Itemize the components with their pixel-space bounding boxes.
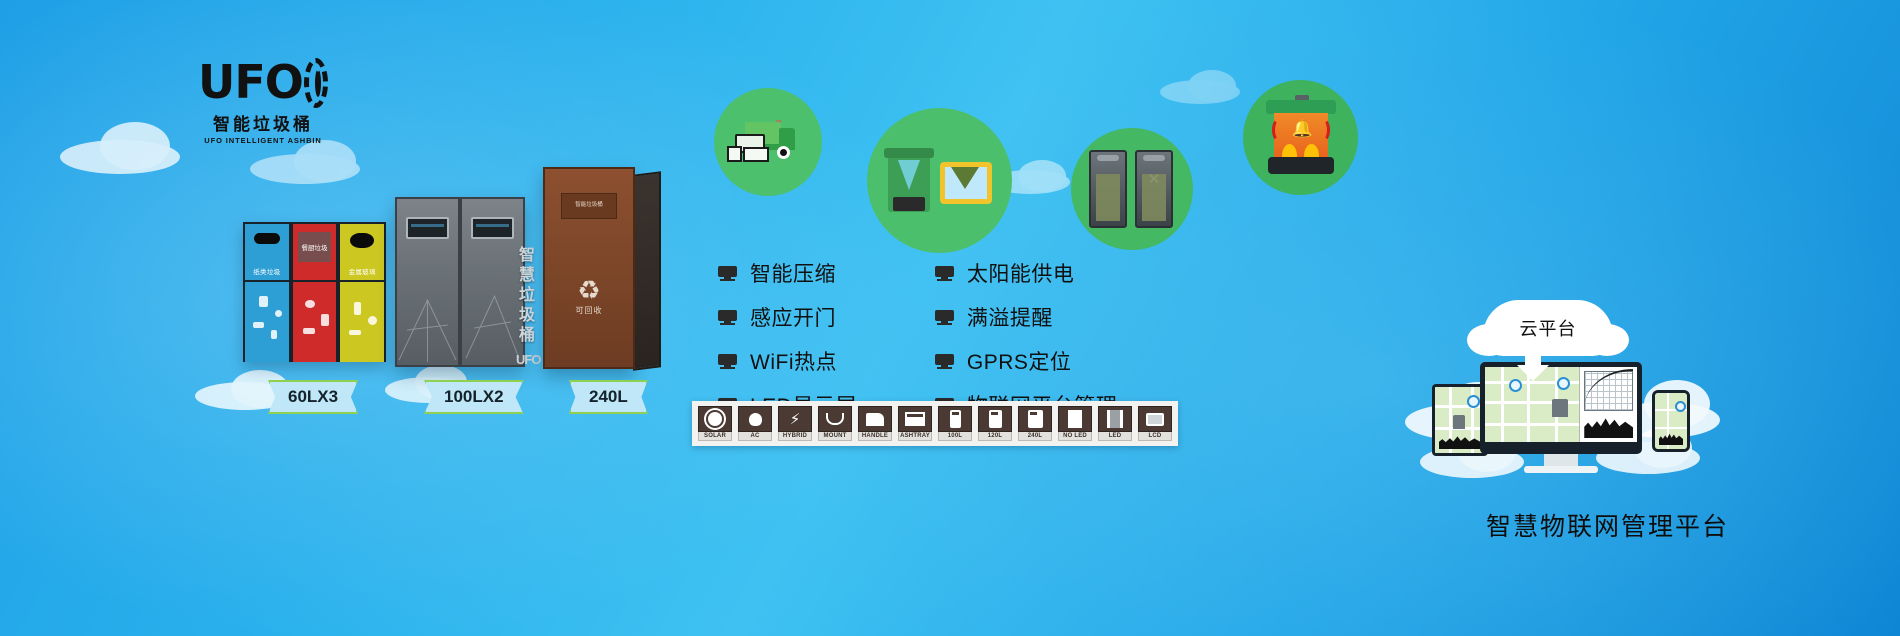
wall-mount-icon — [818, 406, 852, 432]
capacity-tag-60lx3: 60LX3 — [268, 380, 358, 414]
solar-panel-icon — [698, 406, 732, 432]
grey-bin-brand-mark: UFO — [516, 352, 540, 367]
feature-item: GPRS定位 — [935, 346, 1118, 376]
spec-icon-label: AC — [738, 432, 772, 441]
spec-icon-solar: SOLAR — [698, 406, 732, 441]
monitor-icon — [935, 354, 954, 369]
spec-icon-label: HANDLE — [858, 432, 892, 441]
gear-ring-icon — [304, 58, 328, 108]
bin-label-kitchen: 餐厨垃圾 — [298, 232, 331, 262]
spec-icon-label: MOUNT — [818, 432, 852, 441]
grey-bin-vertical-label: 智慧垃圾桶 — [512, 246, 536, 346]
ac-plug-icon — [738, 406, 772, 432]
ashtray-icon — [898, 406, 932, 432]
no-led-icon — [1058, 406, 1092, 432]
recycle-marking: ♻ 可回收 — [545, 277, 633, 316]
spec-icon-label: LCD — [1138, 432, 1172, 441]
auto-bagging-icon: ✕ — [1089, 150, 1175, 228]
bin-column-paper: 纸类垃圾 — [243, 222, 291, 362]
spec-icon-100l: 100L — [938, 406, 972, 441]
brown-bin-240l: 智能垃圾桶 ♻ 可回收 — [543, 167, 635, 369]
spec-icon-lcd: LCD — [1138, 406, 1172, 441]
feature-label: 感应开门 — [750, 302, 836, 332]
bin-column-kitchen: 餐厨垃圾 — [291, 222, 339, 362]
recycle-label: 可回收 — [545, 305, 633, 316]
line-chart-curve — [1584, 371, 1633, 411]
recycle-icon: ♻ — [545, 277, 633, 303]
bin-body-metal-glass — [340, 280, 384, 362]
bin-info-panel: 智能垃圾桶 — [561, 193, 617, 219]
desktop-monitor — [1480, 362, 1642, 454]
spec-icon-label: SOLAR — [698, 432, 732, 441]
spec-icon-ashtray: ASHTRAY — [898, 406, 932, 441]
logo-en-name: UFO INTELLIGENT ASHBIN — [198, 136, 328, 145]
bin-front-face: 智能垃圾桶 ♻ 可回收 — [543, 167, 635, 369]
logo-ufo-text: UFO — [198, 56, 303, 108]
logo-cn-name: 智能垃圾桶 — [198, 110, 328, 135]
hybrid-bolt-icon: ⚡ — [778, 406, 812, 432]
spec-icon-mount: MOUNT — [818, 406, 852, 441]
feature-item: 太阳能供电 — [935, 258, 1118, 288]
spec-icon-label: HYBRID — [778, 432, 812, 441]
feature-label: WiFi热点 — [750, 346, 837, 376]
feature-column-left: 智能压缩 感应开门 WiFi热点 LED显示屏 — [718, 258, 857, 420]
logo-wordmark: UFO — [198, 56, 328, 108]
spec-icon-label: 120L — [978, 432, 1012, 441]
phone-device — [1652, 390, 1690, 452]
capacity-tag-240l: 240L — [569, 380, 648, 414]
spec-icon-label: NO LED — [1058, 432, 1092, 441]
feature-circle-fleet — [714, 88, 822, 196]
spec-icon-strip: SOLAR AC ⚡ HYBRID MOUNT HANDLE ASHTRAY 1… — [692, 401, 1178, 446]
bin-body-kitchen — [293, 280, 337, 362]
feature-label: GPRS定位 — [967, 346, 1072, 376]
fire-alarm-icon: 🔔 — [1262, 100, 1340, 176]
spec-icon-label: 100L — [938, 432, 972, 441]
bin-display-screen — [406, 217, 450, 239]
bar-chart-silhouette — [1584, 410, 1633, 438]
bin-top-kitchen: 餐厨垃圾 — [293, 224, 337, 280]
ufo-logo: UFO 智能垃圾桶 UFO INTELLIGENT ASHBIN — [198, 56, 328, 152]
platform-title: 智慧物联网管理平台 — [1486, 507, 1729, 543]
feature-label: 满溢提醒 — [967, 302, 1053, 332]
three-color-bin: 纸类垃圾 餐厨垃圾 金属玻璃 — [243, 222, 386, 362]
spec-icon-label: ASHTRAY — [898, 432, 932, 441]
monitor-icon — [718, 354, 737, 369]
handle-icon — [858, 406, 892, 432]
cloud-platform-badge: 云平台 — [1483, 300, 1613, 356]
spec-icon-label: LED — [1098, 432, 1132, 441]
spec-icon-led: LED — [1098, 406, 1132, 441]
spec-icon-label: 240L — [1018, 432, 1052, 441]
bin-label-paper: 纸类垃圾 — [245, 266, 289, 276]
lcd-icon — [1138, 406, 1172, 432]
bin-240l-icon — [1018, 406, 1052, 432]
feature-circle-fire-alarm: 🔔 — [1243, 80, 1358, 195]
bin-top-metal-glass: 金属玻璃 — [340, 224, 384, 280]
bin-column-metal-glass: 金属玻璃 — [338, 222, 386, 362]
bin-top-paper: 纸类垃圾 — [245, 224, 289, 280]
monitor-icon — [935, 310, 954, 325]
feature-label: 智能压缩 — [750, 258, 836, 288]
banner-stage: UFO 智能垃圾桶 UFO INTELLIGENT ASHBIN 纸类垃圾 餐厨… — [0, 0, 1900, 636]
management-dashboard — [1432, 362, 1690, 474]
bin-body-paper — [245, 280, 289, 362]
spec-icon-120l: 120L — [978, 406, 1012, 441]
bin-side-panel — [633, 171, 661, 370]
feature-item: 满溢提醒 — [935, 302, 1118, 332]
feature-label: 太阳能供电 — [967, 258, 1075, 288]
monitor-base — [1524, 466, 1598, 473]
feature-column-right: 太阳能供电 满溢提醒 GPRS定位 物联网平台管理 — [935, 258, 1118, 420]
feature-item: 感应开门 — [718, 302, 857, 332]
bin-slot-icon — [254, 233, 280, 244]
analytics-panel — [1579, 367, 1637, 442]
cloud-platform-label: 云平台 — [1483, 300, 1613, 356]
monitor-icon — [718, 266, 737, 281]
feature-list: 智能压缩 感应开门 WiFi热点 LED显示屏 太阳能供电 满溢提醒 — [718, 258, 1117, 420]
capacity-tag-100lx2: 100LX2 — [424, 380, 524, 414]
monitoring-devices-icon — [729, 134, 769, 164]
bin-120l-icon — [978, 406, 1012, 432]
spec-icon-handle: HANDLE — [858, 406, 892, 441]
led-icon — [1098, 406, 1132, 432]
spec-icon-240l: 240L — [1018, 406, 1052, 441]
feature-circle-bagging: ✕ — [1071, 128, 1193, 250]
feature-item: 智能压缩 — [718, 258, 857, 288]
monitor-icon — [718, 310, 737, 325]
dual-grey-bin — [395, 197, 525, 367]
feature-circle-sensor — [867, 108, 1012, 253]
spec-icon-no-led: NO LED — [1058, 406, 1092, 441]
bin-graphic-decoration — [397, 270, 458, 365]
spec-icon-hybrid: ⚡ HYBRID — [778, 406, 812, 441]
spec-icon-ac: AC — [738, 406, 772, 441]
garbage-truck-icon — [735, 120, 801, 164]
fill-sensor-icon — [888, 148, 992, 214]
feature-item: WiFi热点 — [718, 346, 857, 376]
monitor-screen — [1485, 367, 1637, 442]
bin-display-screen — [471, 217, 515, 239]
grey-bin-left — [395, 197, 460, 367]
bin-slot-round-icon — [350, 233, 374, 248]
bin-100l-icon — [938, 406, 972, 432]
bin-label-metal-glass: 金属玻璃 — [340, 266, 384, 276]
monitor-icon — [935, 266, 954, 281]
